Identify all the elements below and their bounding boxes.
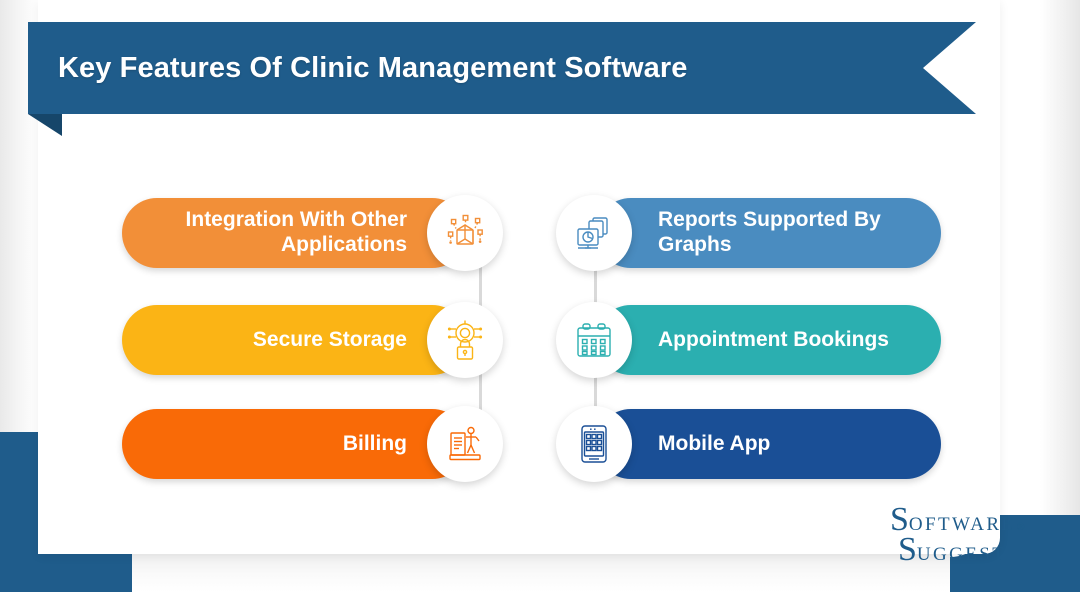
feature-item-integration[interactable]: Integration With Other Applications [122, 198, 542, 268]
background-right-strip [1040, 0, 1080, 592]
feature-label-secure-storage: Secure Storage [253, 328, 407, 353]
feature-label-integration: Integration With Other Applications [122, 208, 407, 258]
logo-cap-s-second: S [898, 533, 917, 567]
frame-bottom-inner-shade [132, 554, 950, 592]
feature-item-mobile-app[interactable]: Mobile App [556, 409, 976, 479]
feature-bar-reports[interactable]: Reports Supported By Graphs [596, 198, 941, 268]
logo-word-software: oftware [909, 515, 1016, 534]
feature-item-reports[interactable]: Reports Supported By Graphs [556, 198, 976, 268]
padlock-circuit-icon [427, 302, 503, 378]
softwaresuggest-logo: S oftware ® S uggest [890, 503, 1025, 567]
feature-bar-secure-storage[interactable]: Secure Storage [122, 305, 467, 375]
feature-item-billing[interactable]: Billing [122, 409, 542, 479]
title-ribbon: Key Features Of Clinic Management Softwa… [28, 22, 976, 114]
monitor-chart-icon [556, 195, 632, 271]
feature-label-appointment-bookings: Appointment Bookings [658, 328, 889, 353]
logo-line-2: S uggest [898, 533, 1025, 567]
feature-label-reports: Reports Supported By Graphs [658, 208, 941, 258]
feature-label-mobile-app: Mobile App [658, 432, 770, 457]
page-title: Key Features Of Clinic Management Softwa… [58, 22, 687, 114]
infographic-canvas: Key Features Of Clinic Management Softwa… [0, 0, 1080, 592]
feature-label-billing: Billing [343, 432, 407, 457]
feature-item-appointment-bookings[interactable]: Appointment Bookings [556, 305, 976, 375]
calendar-icon [556, 302, 632, 378]
feature-bar-integration[interactable]: Integration With Other Applications [122, 198, 467, 268]
feature-item-secure-storage[interactable]: Secure Storage [122, 305, 542, 375]
network-cube-icon [427, 195, 503, 271]
feature-bar-appointment-bookings[interactable]: Appointment Bookings [596, 305, 941, 375]
registered-trademark-icon: ® [1016, 522, 1024, 533]
feature-bar-billing[interactable]: Billing [122, 409, 467, 479]
logo-word-suggest: uggest [917, 545, 1006, 564]
mobile-device-icon [556, 406, 632, 482]
feature-bar-mobile-app[interactable]: Mobile App [596, 409, 941, 479]
invoice-person-icon [427, 406, 503, 482]
